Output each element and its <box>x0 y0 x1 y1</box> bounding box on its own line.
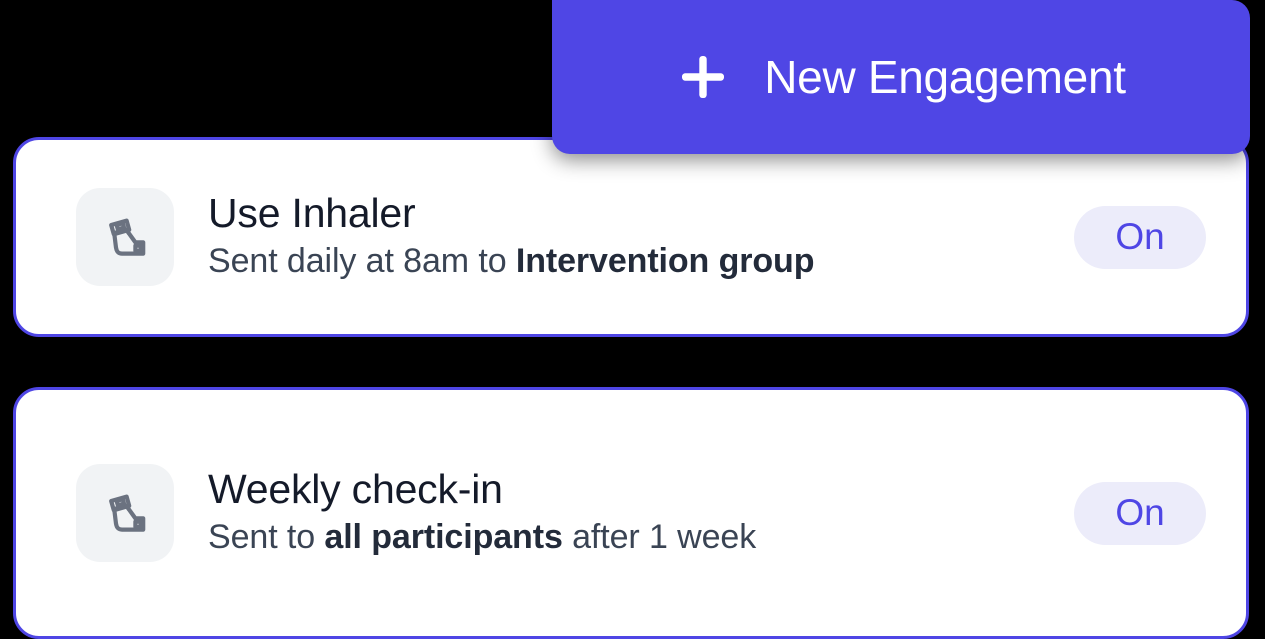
engagement-title: Use Inhaler <box>208 193 1050 234</box>
engagement-details: Use Inhaler Sent daily at 8am to Interve… <box>208 193 1050 280</box>
subtitle-emphasis: Intervention group <box>516 242 815 280</box>
status-badge[interactable]: On <box>1074 206 1206 269</box>
subtitle-prefix: Sent daily at 8am to <box>208 242 516 280</box>
engagement-details: Weekly check-in Sent to all participants… <box>208 469 1050 556</box>
status-badge[interactable]: On <box>1074 482 1206 545</box>
new-engagement-label: New Engagement <box>764 50 1125 104</box>
plus-icon <box>676 50 730 104</box>
engagement-subtitle: Sent to all participants after 1 week <box>208 518 1050 556</box>
engagement-subtitle: Sent daily at 8am to Intervention group <box>208 242 1050 280</box>
engagement-title: Weekly check-in <box>208 469 1050 510</box>
engagement-list-screen: Use Inhaler Sent daily at 8am to Interve… <box>0 0 1265 622</box>
engagement-card[interactable]: Weekly check-in Sent to all participants… <box>13 387 1249 639</box>
engagement-card[interactable]: Use Inhaler Sent daily at 8am to Interve… <box>13 137 1249 337</box>
subtitle-prefix: Sent to <box>208 518 324 556</box>
new-engagement-button[interactable]: New Engagement <box>552 0 1250 154</box>
subtitle-emphasis: all participants <box>324 518 562 556</box>
inhaler-icon <box>76 464 174 562</box>
inhaler-icon <box>76 188 174 286</box>
subtitle-suffix: after 1 week <box>563 518 756 556</box>
